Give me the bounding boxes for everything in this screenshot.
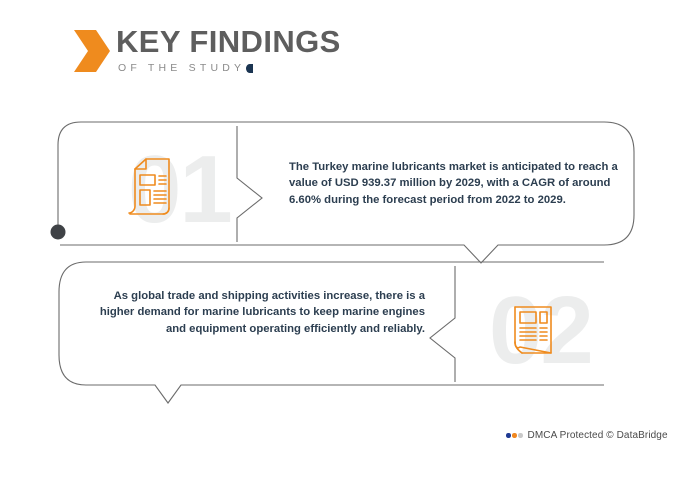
header: KEY FINDINGS OF THE STUDY xyxy=(72,26,341,74)
card-1-divider xyxy=(237,126,262,242)
card-2-divider xyxy=(430,266,455,382)
dmca-dot-orange xyxy=(512,433,517,438)
subtitle-row: OF THE STUDY xyxy=(118,62,341,74)
title-block: KEY FINDINGS OF THE STUDY xyxy=(116,26,341,74)
dmca-dot-blue xyxy=(506,433,511,438)
page-subtitle: OF THE STUDY xyxy=(118,62,245,74)
accent-dot-icon xyxy=(246,64,253,73)
newspaper-document-icon xyxy=(503,298,559,358)
chevron-right-arrow-icon xyxy=(72,28,112,74)
card-2-text: As global trade and shipping activities … xyxy=(85,288,425,337)
dmca-dots-icon xyxy=(506,433,523,438)
timeline-end-dot-icon xyxy=(51,225,66,240)
document-report-icon xyxy=(122,156,178,216)
footer: DMCA Protected © DataBridge xyxy=(506,430,668,441)
infographic-canvas: KEY FINDINGS OF THE STUDY 01 02 xyxy=(0,0,690,479)
page-title: KEY FINDINGS xyxy=(116,26,341,58)
dmca-dot-gray xyxy=(518,433,523,438)
card-1-text: The Turkey marine lubricants market is a… xyxy=(289,159,619,208)
dmca-footer-text: DMCA Protected © DataBridge xyxy=(528,430,668,441)
